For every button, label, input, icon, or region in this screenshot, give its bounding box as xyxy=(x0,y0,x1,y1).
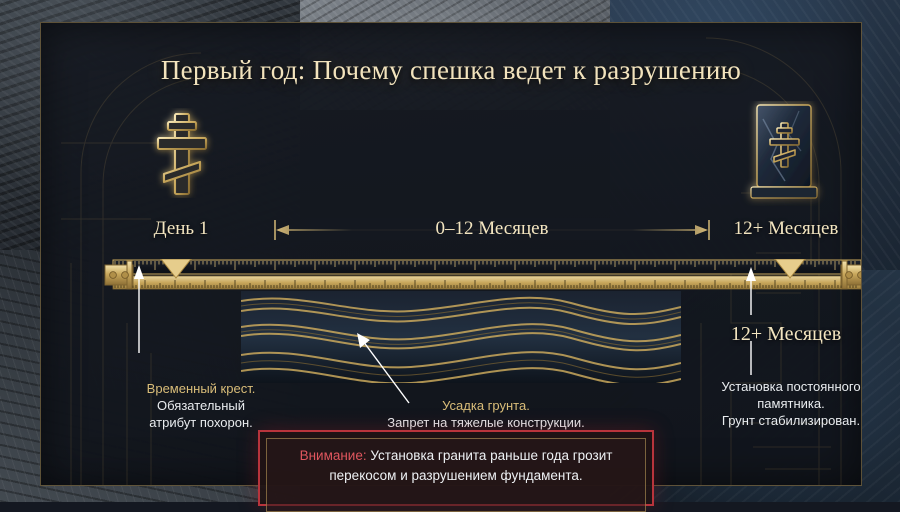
stage-label-12-months-middle: 12+ Месяцев xyxy=(701,323,862,346)
infographic-card: Первый год: Почему спешка ведет к разруш… xyxy=(40,22,862,486)
orthodox-cross-icon xyxy=(146,108,218,198)
callout-line: атрибут похорон. xyxy=(101,414,301,431)
callout-permanent-monument: Установка постоянного памятника. Грунт с… xyxy=(691,378,862,429)
stage-label-day1: День 1 xyxy=(106,218,256,240)
page-title: Первый год: Почему спешка ведет к разруш… xyxy=(41,55,861,86)
tape-measure-icon xyxy=(103,259,862,295)
granite-monument-icon xyxy=(741,101,827,206)
brass-clip-right xyxy=(841,261,862,289)
callout-temporary-cross: Временный крест. Обязательный атрибут по… xyxy=(101,380,301,431)
brass-clip-left xyxy=(105,261,133,289)
callout-highlight: Временный крест. xyxy=(101,380,301,397)
warning-line-1: Установка гранита раньше года грозит xyxy=(367,448,613,463)
stage-label-12-months-top: 12+ Месяцев xyxy=(706,218,862,240)
timeline-span-label: 0–12 Месяцев xyxy=(273,218,711,240)
callout-line: Запрет на тяжелые конструкции. xyxy=(341,414,631,431)
callout-soil-settlement: Усадка грунта. Запрет на тяжелые констру… xyxy=(341,397,631,431)
soil-strata-waves-icon xyxy=(241,291,681,383)
warning-box: Внимание: Установка гранита раньше года … xyxy=(258,430,654,506)
callout-line: Установка постоянного xyxy=(691,378,862,395)
callout-line: Обязательный xyxy=(101,397,301,414)
timeline-span-0-12: 0–12 Месяцев xyxy=(273,219,711,241)
callout-highlight: Усадка грунта. xyxy=(341,397,631,414)
warning-alert-label: Внимание: xyxy=(300,448,367,463)
callout-line: памятника. xyxy=(691,395,862,412)
callout-line: Грунт стабилизирован. xyxy=(691,412,862,429)
warning-line-2: перекосом и разрушением фундамента. xyxy=(329,468,582,483)
warning-text: Внимание: Установка гранита раньше года … xyxy=(270,446,642,485)
